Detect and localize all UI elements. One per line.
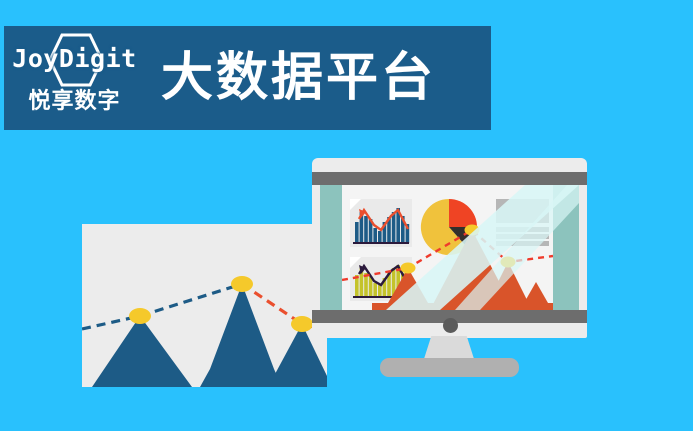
monitor-stand-base — [380, 358, 519, 377]
left-mountain-chart-svg — [82, 224, 327, 387]
left-mountain-chart-panel — [82, 224, 327, 387]
data-marker — [291, 316, 313, 332]
monitor — [312, 158, 587, 338]
data-marker — [129, 308, 151, 324]
page-title: 大数据平台 — [161, 52, 436, 104]
data-marker — [231, 276, 253, 292]
logo-subtitle: 悦享数字 — [28, 83, 120, 115]
poster-canvas: JoyDigit 悦享数字 大数据平台 — [0, 0, 693, 431]
brand-logo: JoyDigit 悦享数字 — [12, 32, 137, 124]
monitor-screen — [320, 185, 579, 310]
header-banner: JoyDigit 悦享数字 大数据平台 — [4, 26, 491, 130]
monitor-camera-dot — [443, 318, 458, 333]
monitor-top-bar — [312, 172, 587, 185]
logo-wordmark: JoyDigit — [12, 44, 136, 73]
screen-glare — [320, 185, 579, 310]
trend-line-blue — [82, 284, 242, 329]
